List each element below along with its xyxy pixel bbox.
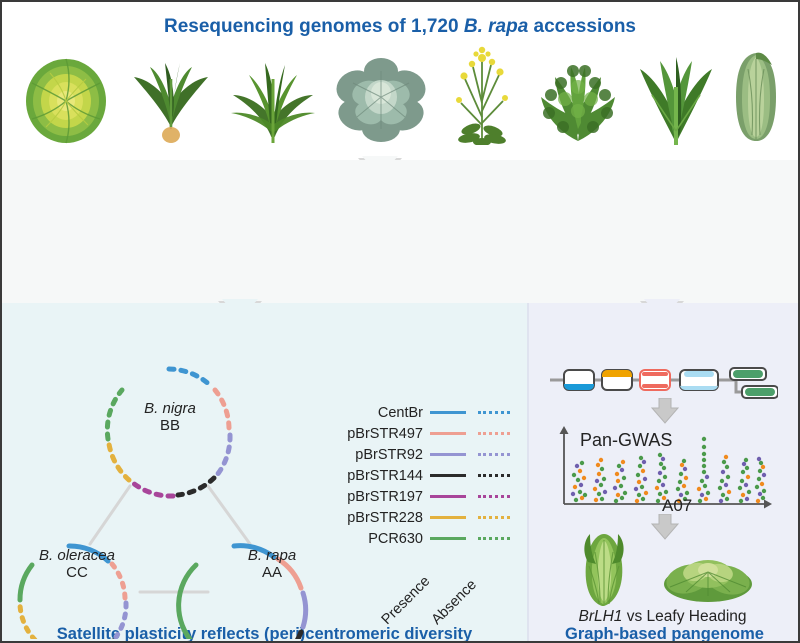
- legend-swatch-presence-pbrstr144: [430, 474, 466, 477]
- node-lightblue: [680, 370, 718, 390]
- legend-label-pbrstr92: pBrSTR92: [320, 447, 430, 463]
- plant-leafy-rosette: [229, 49, 317, 150]
- satellite-legend: CentBr pBrSTR497 pBrSTR92 pBrSTR144 pBrS…: [320, 402, 510, 549]
- node-orange: [602, 370, 632, 390]
- brlh1-gene-name: BrLH1: [578, 608, 622, 625]
- legend-row-centbr: CentBr: [320, 402, 510, 423]
- label-boleracea-genome: CC: [12, 564, 142, 581]
- brlh1-caption-rest: vs Leafy Heading: [622, 608, 746, 625]
- label-bnigra-species: B. nigra: [110, 400, 230, 417]
- legend-row-pbrstr228: pBrSTR228: [320, 507, 510, 528]
- legend-swatch-absence-pbrstr92: [478, 453, 510, 456]
- title-resequencing: Resequencing genomes of 1,720 B. rapa ac…: [2, 16, 798, 39]
- plant-brlh1-upright: [584, 534, 623, 606]
- node-green-bot: [742, 386, 778, 398]
- gwas-cluster-7-peak: [697, 437, 710, 503]
- plant-flowering-stalk: [445, 45, 519, 150]
- title-resequencing-prefix: Resequencing genomes of 1,720: [164, 16, 464, 37]
- gwas-cluster-8: [718, 455, 731, 503]
- legend-swatch-presence-pbrstr497: [430, 432, 466, 435]
- connector-nigra-oleracea: [90, 486, 130, 544]
- label-boleracea: B. oleracea CC: [12, 547, 142, 582]
- legend-absence-label: Absence: [429, 577, 480, 628]
- label-bnigra: B. nigra BB: [110, 400, 230, 435]
- legend-label-centbr: CentBr: [320, 405, 430, 421]
- legend-swatch-presence-pbrstr197: [430, 495, 466, 498]
- plant-pak-choi: [636, 53, 716, 150]
- legend-label-pbrstr144: pBrSTR144: [320, 468, 430, 484]
- y-axis-arrow: [560, 426, 569, 434]
- legend-label-pbrstr228: pBrSTR228: [320, 510, 430, 526]
- legend-swatch-absence-pbrstr197: [478, 495, 510, 498]
- title-resequencing-suffix: accessions: [528, 16, 636, 37]
- legend-swatch-absence-pbrstr497: [478, 432, 510, 435]
- brlh1-caption: BrLH1 vs Leafy Heading: [527, 608, 798, 626]
- title-pangenome: Graph-based pangenome reveals hidden SVs: [529, 625, 800, 643]
- gwas-cluster-10: [755, 457, 766, 503]
- arrow-down-icon-graph-to-gwas: [650, 398, 680, 424]
- gwas-cluster-3: [613, 460, 627, 503]
- gwas-x-axis-label: A07: [662, 496, 692, 516]
- label-brapa-genome: AA: [212, 564, 332, 581]
- connector-nigra-rapa: [208, 486, 250, 544]
- plant-tatsoi: [333, 49, 429, 150]
- plant-heading-cabbage: [20, 49, 112, 150]
- plant-chinese-cabbage: [732, 49, 780, 150]
- legend-row-pcr630: PCR630: [320, 528, 510, 549]
- legend-swatch-absence-pcr630: [478, 537, 510, 540]
- label-boleracea-species: B. oleracea: [12, 547, 142, 564]
- gwas-plot-title: Pan-GWAS: [580, 430, 672, 451]
- legend-label-pbrstr197: pBrSTR197: [320, 489, 430, 505]
- legend-state-labels: Presence Absence: [382, 562, 542, 632]
- legend-row-pbrstr197: pBrSTR197: [320, 486, 510, 507]
- node-blue: [564, 370, 594, 390]
- gwas-cluster-4: [634, 456, 648, 503]
- plant-specimen-row: [20, 50, 780, 150]
- gwas-cluster-1: [571, 461, 587, 502]
- label-brapa: B. rapa AA: [212, 547, 332, 582]
- legend-swatch-presence-centbr: [430, 411, 466, 414]
- legend-swatch-presence-pbrstr228: [430, 516, 466, 519]
- node-green-top: [730, 368, 766, 380]
- pangenome-graph-schematic: [550, 366, 778, 400]
- gwas-cluster-9: [738, 458, 751, 503]
- legend-swatch-absence-pbrstr144: [478, 474, 510, 477]
- legend-label-pbrstr497: pBrSTR497: [320, 426, 430, 442]
- legend-row-pbrstr92: pBrSTR92: [320, 444, 510, 465]
- label-brapa-species: B. rapa: [212, 547, 332, 564]
- brlh1-vs-leafy-heading-plants: [550, 532, 780, 607]
- legend-swatch-absence-pbrstr228: [478, 516, 510, 519]
- x-axis-arrow: [764, 500, 772, 509]
- legend-swatch-presence-pcr630: [430, 537, 466, 540]
- legend-swatch-absence-centbr: [478, 411, 510, 414]
- plant-turnip: [128, 49, 214, 150]
- title-pangenome-line1: Graph-based pangenome: [565, 625, 764, 643]
- plant-leafy-heading-flat: [663, 560, 752, 602]
- genome-circles-diagram: [12, 354, 352, 639]
- node-red: [640, 370, 670, 390]
- gwas-cluster-2: [593, 458, 607, 502]
- panel-resequencing: Resequencing genomes of 1,720 B. rapa ac…: [2, 2, 798, 160]
- label-bnigra-genome: BB: [110, 417, 230, 434]
- legend-swatch-presence-pbrstr92: [430, 453, 466, 456]
- title-resequencing-species: B. rapa: [464, 16, 528, 37]
- panel-t2t-assemblies: T2T assemblies for 11 representative B. …: [2, 160, 798, 303]
- legend-presence-label: Presence: [379, 573, 434, 628]
- plant-curly-kale: [535, 55, 621, 150]
- legend-row-pbrstr497: pBrSTR497: [320, 423, 510, 444]
- graphical-abstract-figure: Resequencing genomes of 1,720 B. rapa ac…: [0, 0, 800, 643]
- legend-label-pcr630: PCR630: [320, 531, 430, 547]
- legend-row-pbrstr144: pBrSTR144: [320, 465, 510, 486]
